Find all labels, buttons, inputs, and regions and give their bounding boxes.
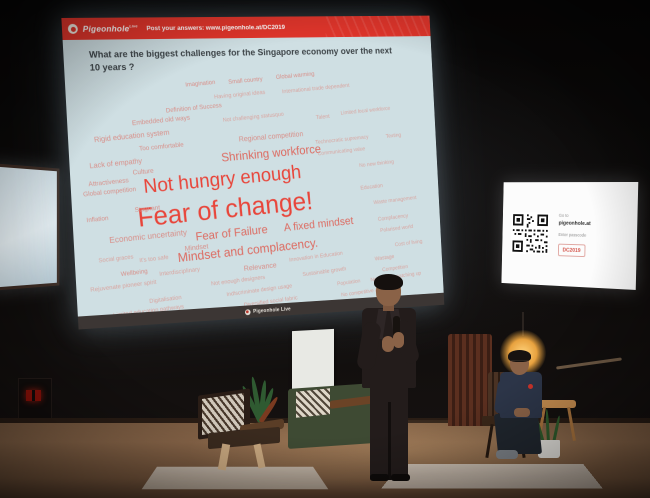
- cloud-word: It's too safe: [139, 255, 169, 264]
- speaker-hand-right: [393, 332, 404, 348]
- cloud-word: International trade dependent: [282, 83, 350, 95]
- cloud-word: Digitalisation: [149, 295, 182, 305]
- cloud-word: Small country: [228, 76, 263, 86]
- seated-panelist: [494, 352, 554, 464]
- brand-name: PigeonholeLive: [82, 23, 138, 33]
- cloud-word: Competition: [382, 264, 408, 273]
- join-instructions-screen: Go to pigeonhole.at Enter passcode DC201…: [501, 182, 638, 290]
- speaker-leg-split: [388, 402, 391, 480]
- word-cloud: Fear of change!Not hungry enoughMindset …: [75, 71, 437, 308]
- brand-tm: Live: [129, 24, 138, 29]
- armchair-left: [196, 392, 282, 470]
- cloud-word: Not enough designers: [211, 275, 266, 287]
- photo-scene: PigeonholeLive Post your answers: www.pi…: [0, 0, 650, 498]
- cloud-word: Technocratic supremacy: [315, 134, 369, 145]
- speaker-person: [352, 276, 426, 481]
- cloud-word: Polarised world: [380, 224, 414, 234]
- cloud-word: Inflation: [86, 215, 109, 224]
- rug-left: [142, 467, 329, 489]
- cloud-word: Talent: [316, 114, 330, 121]
- join-details: Go to pigeonhole.at Enter passcode DC201…: [558, 212, 591, 257]
- footer-logo-icon: [245, 309, 251, 315]
- cloud-word: Sustainable growth: [302, 266, 346, 278]
- join-screen-content: Go to pigeonhole.at Enter passcode DC201…: [501, 182, 638, 290]
- panelist-hands: [514, 408, 530, 417]
- cloud-word: Definition of Success: [165, 102, 222, 114]
- cloud-word: A fixed mindset: [283, 215, 354, 234]
- cloud-word: Shrinking workforce: [221, 142, 322, 164]
- glasses-icon: [511, 360, 528, 365]
- panelist-legs: [494, 414, 542, 454]
- qr-code-icon: [511, 212, 550, 255]
- slide-header-bar: PigeonholeLive Post your answers: www.pi…: [61, 16, 430, 40]
- post-answers-prompt: Post your answers: www.pigeonhole.at/DC2…: [146, 24, 285, 32]
- cloud-word: Having original ideas: [214, 90, 266, 101]
- passcode-label: Enter passcode: [558, 231, 590, 240]
- sofa-cushion: [296, 388, 330, 418]
- cloud-word: Waste management: [373, 195, 417, 206]
- armchair-cushion: [202, 393, 244, 435]
- slide-question: What are the biggest challenges for the …: [89, 44, 395, 74]
- cloud-word: Relevance: [243, 261, 277, 273]
- cloud-word: Wastage: [374, 254, 394, 262]
- cloud-word: Texting: [386, 133, 402, 140]
- cloud-word: Rejuvenate pioneer spirit: [90, 279, 157, 294]
- cloud-word: Complacency: [378, 213, 409, 222]
- cloud-word: Global warming: [276, 71, 315, 81]
- cloud-word: Not challenging statusquo: [223, 112, 285, 124]
- cloud-word: Too comfortable: [139, 142, 184, 153]
- cloud-word: Regional competition: [238, 129, 303, 143]
- cloud-word: No new thinking: [359, 159, 394, 169]
- cloud-word: Limited local workforce: [340, 106, 390, 117]
- footer-brand: Pigeonhole Live: [253, 306, 291, 314]
- side-projection-screen: [0, 163, 59, 291]
- cloud-word: Imagination: [185, 79, 216, 89]
- cloud-word: Indiscriminate design usage: [226, 283, 292, 298]
- cloud-word: Embedded old ways: [132, 115, 191, 128]
- exit-sign-icon: [26, 390, 41, 401]
- cloud-word: Interdisciplinary: [159, 266, 200, 278]
- passcode-value: DC2019: [558, 244, 585, 257]
- cloud-word: Wellbeing: [120, 268, 148, 278]
- cloud-word: Communicating value: [318, 146, 366, 157]
- cloud-word: Lack of empathy: [89, 156, 142, 170]
- cloud-word: Innovation in Education: [289, 251, 343, 264]
- cloud-word: Social graces: [98, 254, 133, 264]
- speaker-hair: [374, 274, 403, 290]
- cloud-word: Cost of living: [395, 239, 423, 248]
- pigeonhole-logo-icon: [68, 24, 78, 34]
- lapel-pin-icon: [528, 384, 533, 389]
- cloud-word: Rigid education system: [93, 128, 169, 145]
- panelist-shoe: [496, 450, 518, 459]
- cloud-word: Education: [360, 183, 383, 191]
- join-url: pigeonhole.at: [559, 220, 591, 228]
